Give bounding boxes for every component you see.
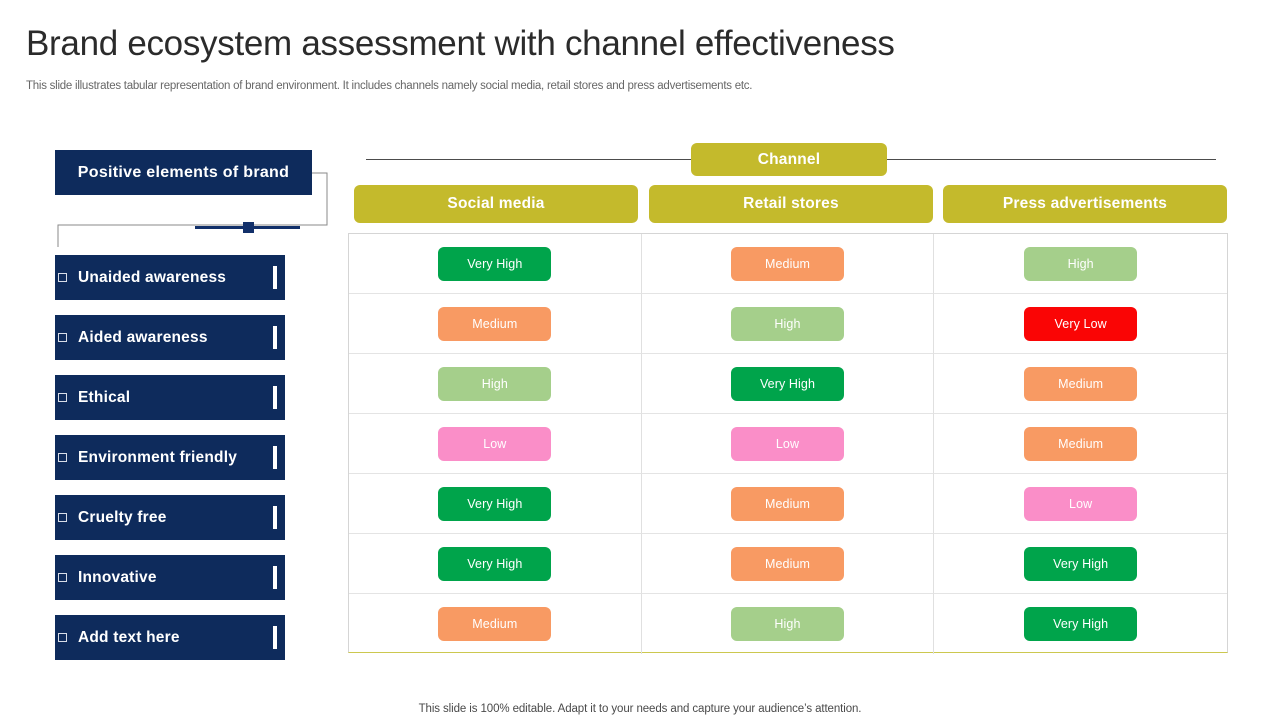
brand-element-label: Ethical [78,389,130,407]
brand-element-item[interactable]: Add text here [55,615,285,660]
brand-element-label: Innovative [78,569,157,587]
rating-cell: Medium [642,534,935,594]
accent-bar-icon [273,506,277,529]
footer-note: This slide is 100% editable. Adapt it to… [0,703,1280,715]
rating-badge-label: Very High [467,557,522,571]
rating-badge[interactable]: Very Low [1024,307,1137,341]
rating-badge[interactable]: High [1024,247,1137,281]
rating-badge-label: Low [776,437,799,451]
rating-cell: Medium [349,294,642,354]
rating-badge[interactable]: Low [731,427,844,461]
rating-badge-label: Very High [1053,557,1108,571]
rating-cell: Medium [642,474,935,534]
brand-element-item[interactable]: Innovative [55,555,285,600]
rating-cell: Very Low [934,294,1227,354]
rating-badge[interactable]: Medium [1024,427,1137,461]
brand-element-item[interactable]: Environment friendly [55,435,285,480]
rating-badge[interactable]: Very High [731,367,844,401]
rating-cell: Very High [642,354,935,414]
checkbox-square-icon [58,273,67,282]
rating-badge-label: Medium [472,317,517,331]
brand-element-list: Unaided awarenessAided awarenessEthicalE… [55,255,345,675]
rating-badge-label: Very Low [1055,317,1107,331]
rating-badge[interactable]: Medium [438,607,551,641]
rating-badge[interactable]: High [731,307,844,341]
rating-badge[interactable]: High [731,607,844,641]
rating-badge-label: High [482,377,508,391]
brand-element-item[interactable]: Ethical [55,375,285,420]
rating-badge-label: High [1068,257,1094,271]
rating-badge[interactable]: Medium [731,547,844,581]
rating-badge[interactable]: Very High [1024,547,1137,581]
rating-badge[interactable]: Low [1024,487,1137,521]
brand-element-label: Unaided awareness [78,269,226,287]
rating-cell: Very High [934,594,1227,654]
panel-title-label: Positive elements of brand [78,164,289,182]
accent-bar-icon [273,626,277,649]
column-header-social-media[interactable]: Social media [354,185,638,223]
rating-cell: Medium [642,234,935,294]
brand-element-item[interactable]: Unaided awareness [55,255,285,300]
column-header-retail-stores[interactable]: Retail stores [649,185,933,223]
rating-cell: Low [642,414,935,474]
rating-badge-label: Low [483,437,506,451]
rating-badge-label: Medium [1058,377,1103,391]
brand-element-label: Environment friendly [78,449,237,467]
rating-cell: Medium [349,594,642,654]
rating-cell: High [642,294,935,354]
rating-badge-label: Medium [765,257,810,271]
accent-bar-icon [273,326,277,349]
rating-badge[interactable]: Very High [1024,607,1137,641]
brand-element-label: Add text here [78,629,180,647]
panel-title-box: Positive elements of brand [55,150,312,195]
rating-badge-label: Very High [467,497,522,511]
column-header-label: Retail stores [743,195,839,213]
column-header-press-advertisements[interactable]: Press advertisements [943,185,1227,223]
rating-badge-label: High [774,617,800,631]
rating-badge[interactable]: Medium [1024,367,1137,401]
brand-element-label: Aided awareness [78,329,208,347]
channel-group-header: Channel [691,143,887,176]
checkbox-square-icon [58,513,67,522]
brand-element-label: Cruelty free [78,509,167,527]
accent-bar-icon [273,266,277,289]
rating-cell: High [642,594,935,654]
rating-cell: High [934,234,1227,294]
rating-badge-label: Very High [1053,617,1108,631]
rating-badge[interactable]: Very High [438,247,551,281]
rating-badge-label: Medium [1058,437,1103,451]
checkbox-square-icon [58,333,67,342]
rating-badge-label: Medium [472,617,517,631]
page-subtitle: This slide illustrates tabular represent… [26,80,752,92]
column-header-row: Social media Retail stores Press adverti… [348,185,1228,223]
rating-cell: Low [349,414,642,474]
rating-badge-label: Medium [765,497,810,511]
checkbox-square-icon [58,453,67,462]
rating-cell: Very High [349,474,642,534]
rating-cell: High [349,354,642,414]
channel-group-label: Channel [758,151,821,169]
checkbox-square-icon [58,393,67,402]
rating-cell: Low [934,474,1227,534]
accent-bar-icon [273,566,277,589]
column-header-label: Press advertisements [1003,195,1167,213]
rating-badge-label: High [774,317,800,331]
rating-badge-label: Very High [467,257,522,271]
rating-badge-label: Medium [765,557,810,571]
channel-effectiveness-table: Channel Social media Retail stores Press… [348,140,1228,655]
accent-bar-icon [273,446,277,469]
brand-element-item[interactable]: Aided awareness [55,315,285,360]
rating-badge-label: Low [1069,497,1092,511]
page-title: Brand ecosystem assessment with channel … [26,24,895,64]
rating-badge[interactable]: High [438,367,551,401]
rating-grid: Very HighMediumHighMediumHighVery LowHig… [348,233,1228,653]
accent-bar-icon [273,386,277,409]
rating-badge[interactable]: Very High [438,487,551,521]
rating-cell: Medium [934,354,1227,414]
panel-connector-node [243,222,254,233]
rating-badge[interactable]: Medium [731,487,844,521]
rating-cell: Medium [934,414,1227,474]
rating-badge[interactable]: Low [438,427,551,461]
brand-element-item[interactable]: Cruelty free [55,495,285,540]
rating-badge[interactable]: Medium [438,307,551,341]
rating-badge[interactable]: Very High [438,547,551,581]
rating-badge-label: Very High [760,377,815,391]
column-header-label: Social media [447,195,544,213]
rating-cell: Very High [349,534,642,594]
checkbox-square-icon [58,573,67,582]
positive-elements-panel: Positive elements of brand Unaided aware… [55,150,345,660]
rating-cell: Very High [349,234,642,294]
rating-badge[interactable]: Medium [731,247,844,281]
checkbox-square-icon [58,633,67,642]
rating-cell: Very High [934,534,1227,594]
